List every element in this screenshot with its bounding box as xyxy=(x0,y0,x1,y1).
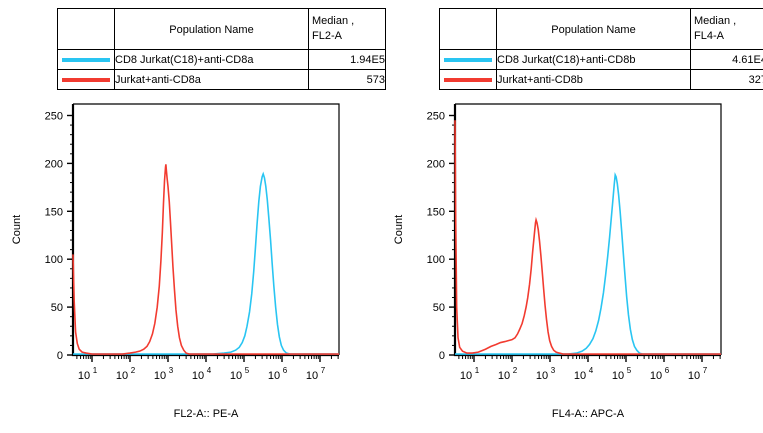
legend-header-row: Population Name Median , FL2-A xyxy=(58,9,386,50)
svg-text:50: 50 xyxy=(433,302,445,314)
legend-header-population-name[interactable]: Population Name xyxy=(497,9,691,50)
svg-text:10: 10 xyxy=(574,370,586,382)
legend-table-right: Population Name Median , FL4-A CD8 Jurka… xyxy=(439,8,763,90)
legend-median-value: 1.94E5 xyxy=(309,50,386,70)
svg-text:10: 10 xyxy=(498,370,510,382)
legend-median-value: 573 xyxy=(309,70,386,90)
legend-table-left: Population Name Median , FL2-A CD8 Jurka… xyxy=(57,8,386,90)
legend-header-swatch-cell xyxy=(440,9,497,50)
legend-population-name: CD8 Jurkat(C18)+anti-CD8b xyxy=(497,50,691,70)
svg-text:6: 6 xyxy=(665,366,670,375)
svg-text:10: 10 xyxy=(460,370,472,382)
svg-text:10: 10 xyxy=(306,370,318,382)
legend-population-name: Jurkat+anti-CD8a xyxy=(115,70,309,90)
legend-header-median-line1: Median , xyxy=(691,14,763,29)
cyan-line-swatch xyxy=(62,58,110,62)
histogram-plot-left: 050100150200250101102103104105106107Coun… xyxy=(0,95,381,433)
svg-text:1: 1 xyxy=(93,366,98,375)
svg-text:FL4-A:: APC-A: FL4-A:: APC-A xyxy=(552,408,625,420)
svg-text:6: 6 xyxy=(283,366,288,375)
legend-population-name: Jurkat+anti-CD8b xyxy=(497,70,691,90)
svg-text:250: 250 xyxy=(427,110,445,122)
svg-text:2: 2 xyxy=(513,366,518,375)
svg-text:5: 5 xyxy=(627,366,632,375)
svg-text:10: 10 xyxy=(154,370,166,382)
legend-swatch-cell xyxy=(58,50,115,70)
legend-swatch-cell xyxy=(58,70,115,90)
red-line-swatch xyxy=(444,78,492,82)
cyan-line-swatch xyxy=(444,58,492,62)
svg-text:7: 7 xyxy=(321,366,326,375)
legend-row[interactable]: CD8 Jurkat(C18)+anti-CD8a 1.94E5 xyxy=(58,50,386,70)
svg-text:Count: Count xyxy=(393,215,405,244)
svg-text:50: 50 xyxy=(51,302,63,314)
histogram-svg: 050100150200250101102103104105106107Coun… xyxy=(382,95,763,433)
svg-text:3: 3 xyxy=(551,366,556,375)
svg-text:10: 10 xyxy=(536,370,548,382)
svg-text:Count: Count xyxy=(11,215,23,244)
svg-text:FL2-A:: PE-A: FL2-A:: PE-A xyxy=(174,408,239,420)
legend-header-median-line1: Median , xyxy=(309,14,385,29)
legend-header-population-name-label: Population Name xyxy=(497,22,690,36)
svg-text:2: 2 xyxy=(131,366,136,375)
svg-text:10: 10 xyxy=(230,370,242,382)
svg-text:10: 10 xyxy=(612,370,624,382)
svg-text:150: 150 xyxy=(427,206,445,218)
legend-swatch-cell xyxy=(440,70,497,90)
red-line-swatch xyxy=(62,78,110,82)
legend-median-value: 327 xyxy=(691,70,763,90)
legend-header-median-line2: FL4-A xyxy=(691,29,763,44)
svg-text:10: 10 xyxy=(192,370,204,382)
legend-header-median[interactable]: Median , FL2-A xyxy=(309,9,386,50)
svg-text:4: 4 xyxy=(589,366,594,375)
legend-header-median[interactable]: Median , FL4-A xyxy=(691,9,763,50)
svg-text:10: 10 xyxy=(650,370,662,382)
svg-text:200: 200 xyxy=(427,158,445,170)
legend-population-name: CD8 Jurkat(C18)+anti-CD8a xyxy=(115,50,309,70)
svg-text:250: 250 xyxy=(45,110,63,122)
legend-header-population-name[interactable]: Population Name xyxy=(115,9,309,50)
legend-row[interactable]: Jurkat+anti-CD8b 327 xyxy=(440,70,763,90)
flow-panel-left: Population Name Median , FL2-A CD8 Jurka… xyxy=(0,0,381,433)
svg-text:7: 7 xyxy=(703,366,708,375)
svg-text:150: 150 xyxy=(45,206,63,218)
svg-text:0: 0 xyxy=(57,350,63,362)
svg-text:3: 3 xyxy=(169,366,174,375)
svg-text:4: 4 xyxy=(207,366,212,375)
legend-header-row: Population Name Median , FL4-A xyxy=(440,9,763,50)
svg-text:10: 10 xyxy=(268,370,280,382)
svg-text:5: 5 xyxy=(245,366,250,375)
svg-text:100: 100 xyxy=(45,254,63,266)
legend-row[interactable]: Jurkat+anti-CD8a 573 xyxy=(58,70,386,90)
legend-header-population-name-label: Population Name xyxy=(115,22,308,36)
legend-swatch-cell xyxy=(440,50,497,70)
svg-text:10: 10 xyxy=(688,370,700,382)
legend-header-swatch-cell xyxy=(58,9,115,50)
svg-text:10: 10 xyxy=(78,370,90,382)
histogram-svg: 050100150200250101102103104105106107Coun… xyxy=(0,95,381,433)
legend-row[interactable]: CD8 Jurkat(C18)+anti-CD8b 4.61E4 xyxy=(440,50,763,70)
svg-text:100: 100 xyxy=(427,254,445,266)
legend-median-value: 4.61E4 xyxy=(691,50,763,70)
histogram-plot-right: 050100150200250101102103104105106107Coun… xyxy=(382,95,763,433)
svg-text:1: 1 xyxy=(475,366,480,375)
flow-panel-right: Population Name Median , FL4-A CD8 Jurka… xyxy=(382,0,763,433)
svg-text:0: 0 xyxy=(439,350,445,362)
legend-header-median-line2: FL2-A xyxy=(309,29,385,44)
svg-text:10: 10 xyxy=(116,370,128,382)
svg-text:200: 200 xyxy=(45,158,63,170)
